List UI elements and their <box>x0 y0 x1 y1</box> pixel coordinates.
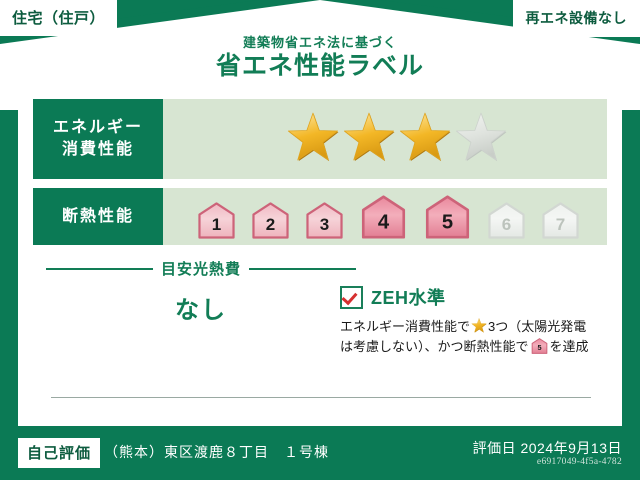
badge-building-type: 住宅（住戸） <box>0 0 117 36</box>
energy-performance-label: エネルギー 消費性能 <box>33 99 163 179</box>
utility-cost-label: 目安光熱費 <box>161 258 241 279</box>
svg-text:5: 5 <box>441 211 452 233</box>
star-empty-icon <box>454 112 508 166</box>
svg-text:6: 6 <box>501 215 510 234</box>
inline-star-icon <box>471 318 487 334</box>
insulation-grade-bar: 1234567 <box>191 195 586 239</box>
insulation-grade-active: 3 <box>299 202 350 239</box>
zeh-title: ZEH水準 <box>371 284 446 310</box>
zeh-desc-part3: を達成 <box>550 339 589 354</box>
svg-text:5: 5 <box>537 343 541 352</box>
zeh-desc-part1: エネルギー消費性能で <box>340 319 470 334</box>
panel-divider <box>51 397 591 398</box>
star-rating <box>286 112 508 166</box>
zeh-desc-part2: は考慮しない）、かつ断熱性能で <box>340 339 529 354</box>
rule-left <box>46 268 153 270</box>
rule-right <box>249 268 356 270</box>
star-filled-icon <box>342 112 396 166</box>
title-block: 建築物省エネ法に基づく 省エネ性能ラベル <box>0 36 640 81</box>
energy-label-line2: 消費性能 <box>62 139 134 161</box>
zeh-desc-star-count: 3つ（太陽光発電 <box>488 319 586 334</box>
energy-performance-label: 住宅（住戸） 再エネ設備なし 建築物省エネ法に基づく 省エネ性能ラベル エネルギ… <box>0 0 640 480</box>
insulation-performance-label: 断熱性能 <box>33 188 163 245</box>
insulation-grade-inactive: 7 <box>535 202 586 239</box>
svg-text:1: 1 <box>211 215 220 234</box>
insulation-grade-active: 5 <box>417 195 478 239</box>
svg-text:2: 2 <box>265 215 274 234</box>
page-title: 省エネ性能ラベル <box>0 53 640 81</box>
insulation-performance-row: 断熱性能 1234567 <box>33 188 607 245</box>
utility-cost-value: なし <box>46 290 356 325</box>
inline-house-grade-icon: 5 <box>531 338 548 354</box>
star-filled-icon <box>286 112 340 166</box>
insulation-grade-active: 1 <box>191 202 242 239</box>
svg-text:4: 4 <box>377 211 389 233</box>
insulation-grade-active: 4 <box>353 195 414 239</box>
energy-performance-value <box>163 99 607 179</box>
insulation-grade-active: 2 <box>245 202 296 239</box>
evaluation-id: e6917049-4f5a-4782 <box>537 457 622 467</box>
zeh-description: エネルギー消費性能で3つ（太陽光発電 は考慮しない）、かつ断熱性能で5を達成 <box>340 317 612 357</box>
footer: 自己評価 （熊本）東区渡鹿８丁目 １号棟 評価日 2024年9月13日 e691… <box>0 430 640 480</box>
svg-text:7: 7 <box>555 215 564 234</box>
svg-text:3: 3 <box>319 215 328 234</box>
zeh-checkbox-checked-icon <box>340 286 363 309</box>
main-panel: エネルギー 消費性能 断熱性能 1234567 目安光熱費 なし <box>18 88 622 426</box>
utility-cost-heading: 目安光熱費 <box>46 258 356 279</box>
badge-evaluation-type: 自己評価 <box>18 438 100 468</box>
insulation-performance-value: 1234567 <box>163 188 607 245</box>
badge-renewable-equipment: 再エネ設備なし <box>513 0 640 37</box>
insulation-label-text: 断熱性能 <box>62 206 134 228</box>
zeh-heading: ZEH水準 <box>340 284 612 310</box>
evaluation-date: 評価日 2024年9月13日 <box>473 438 622 458</box>
star-filled-icon <box>398 112 452 166</box>
zeh-standard-block: ZEH水準 エネルギー消費性能で3つ（太陽光発電 は考慮しない）、かつ断熱性能で… <box>340 284 612 357</box>
energy-label-line1: エネルギー <box>53 117 143 139</box>
title-subtitle: 建築物省エネ法に基づく <box>0 36 640 50</box>
energy-performance-row: エネルギー 消費性能 <box>33 99 607 179</box>
insulation-grade-inactive: 6 <box>481 202 532 239</box>
property-address: （熊本）東区渡鹿８丁目 １号棟 <box>104 442 329 462</box>
